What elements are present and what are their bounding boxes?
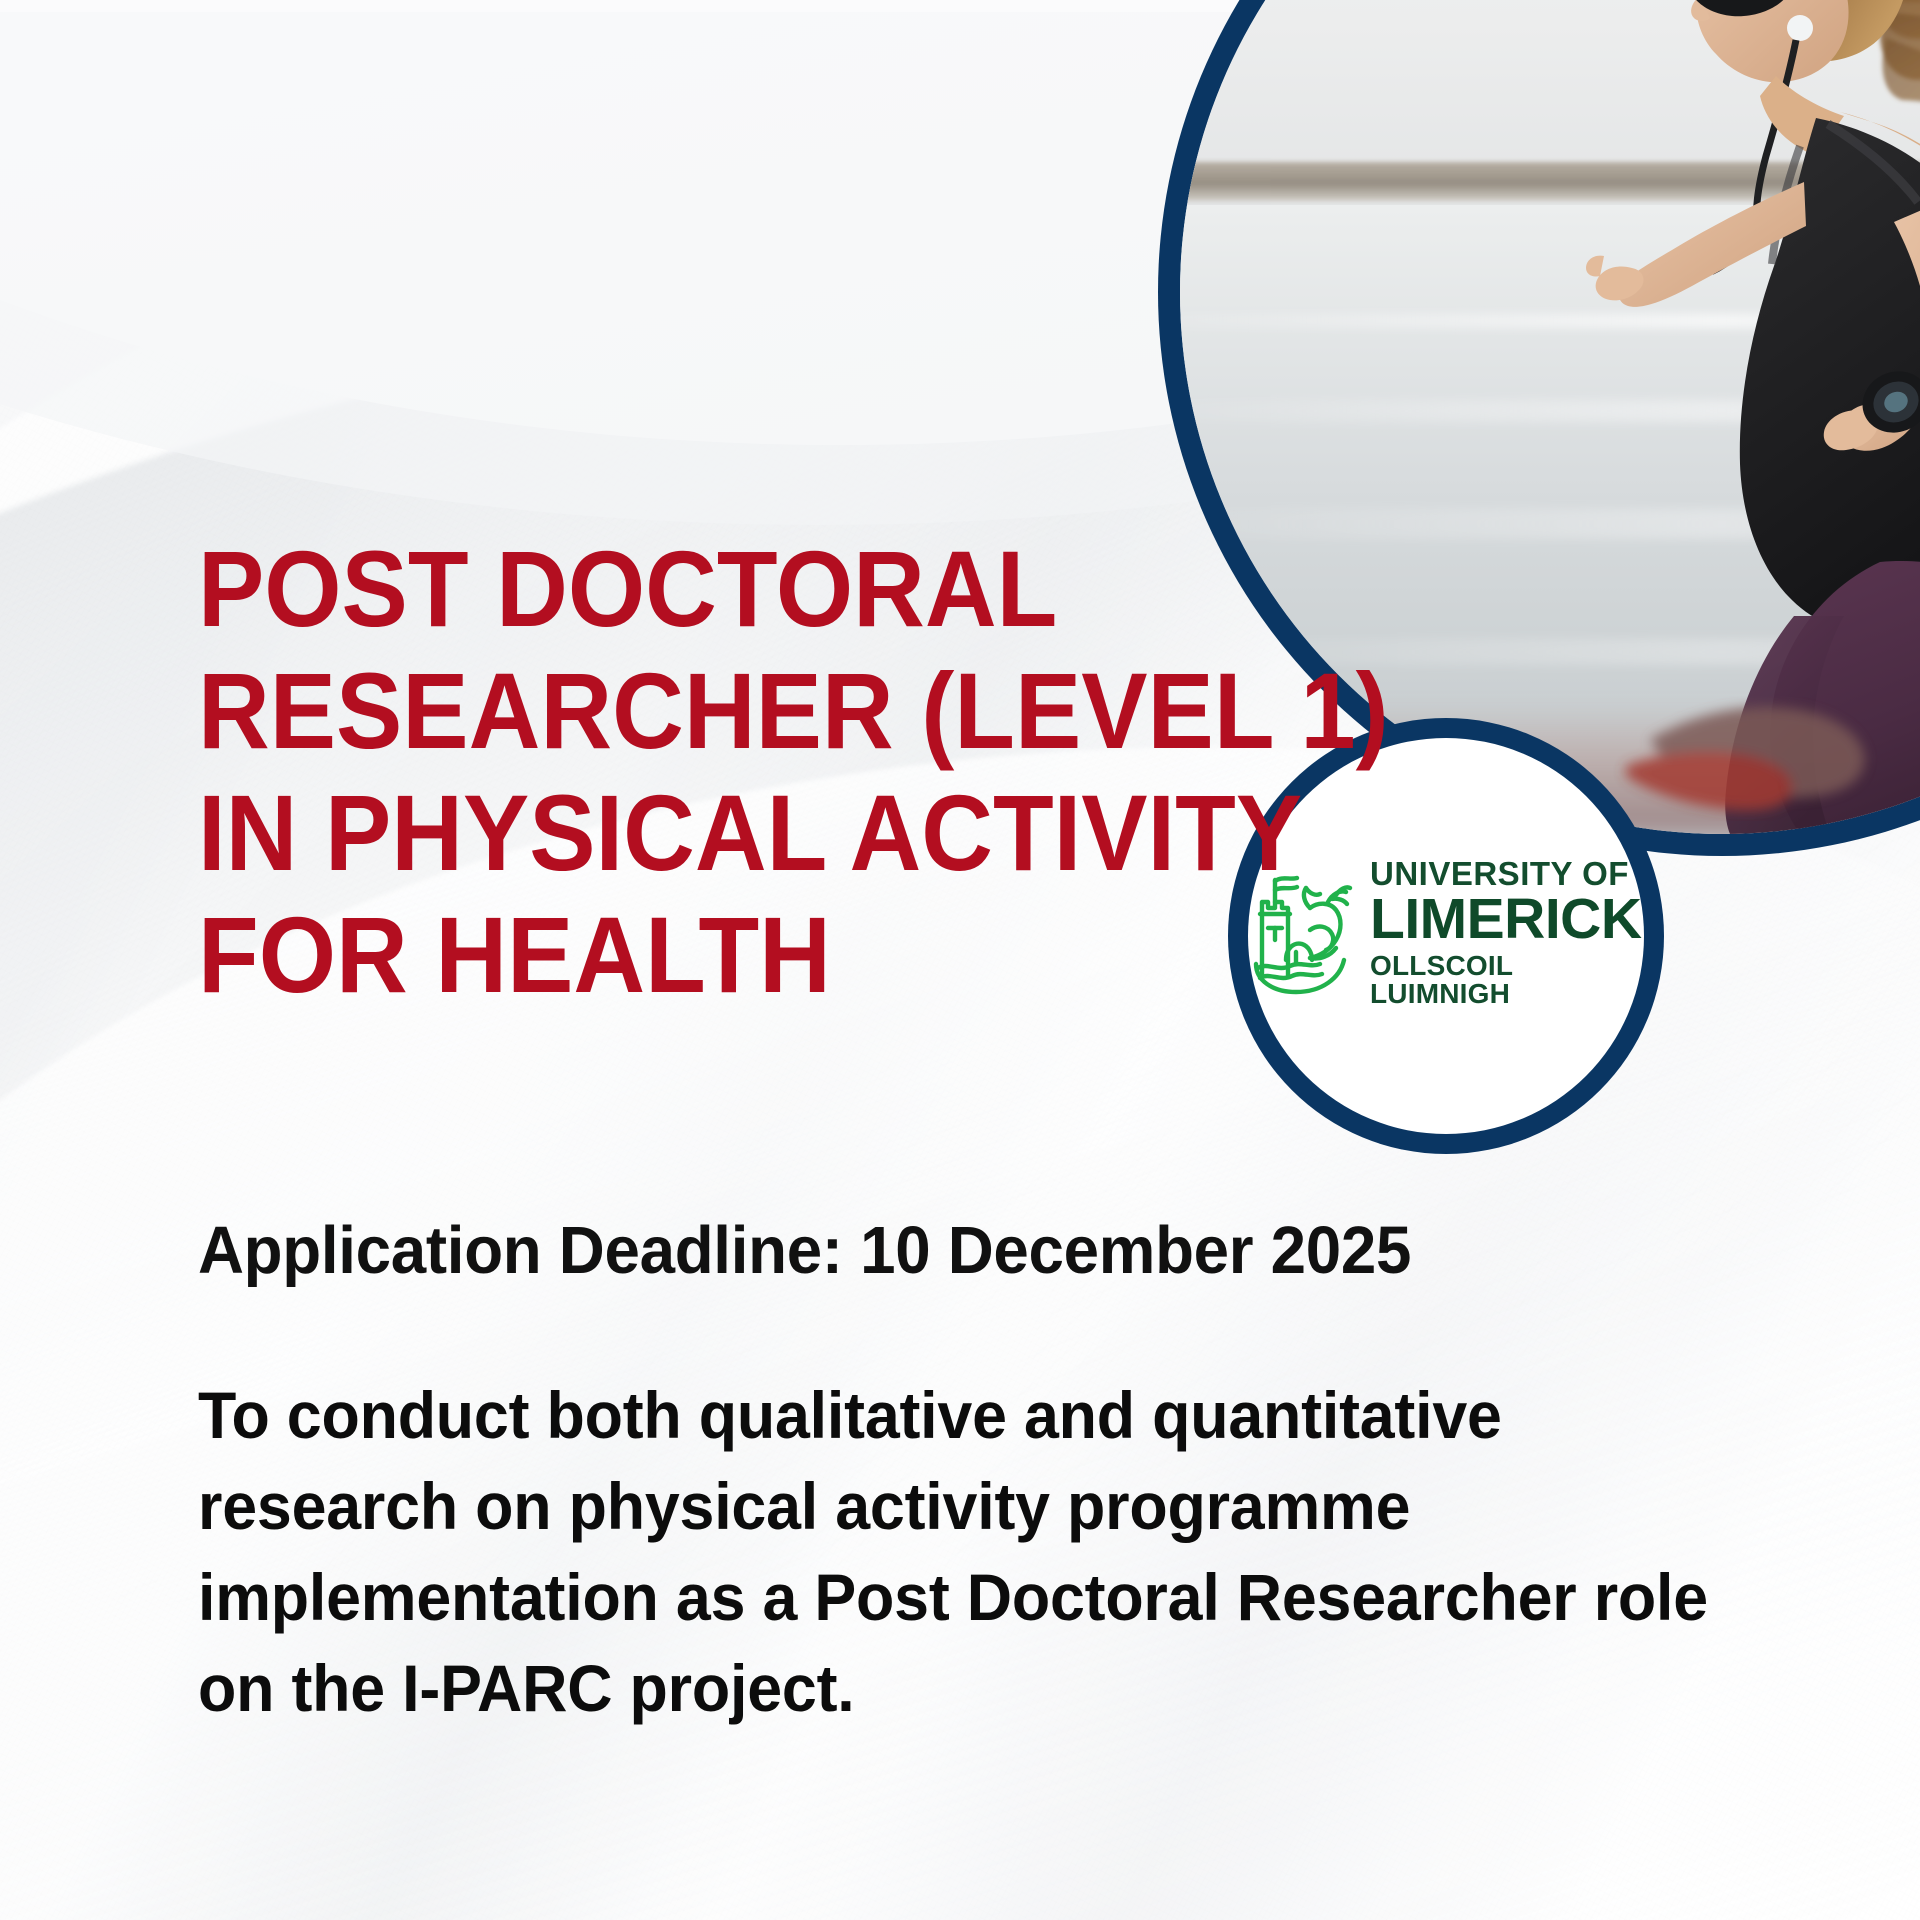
university-logo: UNIVERSITY OF LIMERICK OLLSCOIL LUIMNIGH xyxy=(1248,738,1644,1134)
job-description: To conduct both qualitative and quantita… xyxy=(198,1370,1718,1734)
logo-line-3: OLLSCOIL LUIMNIGH xyxy=(1370,952,1644,1008)
headline-line: POST DOCTORAL xyxy=(198,528,1136,650)
logo-line-2: LIMERICK xyxy=(1370,891,1644,948)
headline-line: RESEARCHER (LEVEL 1) xyxy=(198,650,1136,772)
headline-line: FOR HEALTH xyxy=(198,894,1136,1016)
poster-headline: POST DOCTORAL RESEARCHER (LEVEL 1) IN PH… xyxy=(198,528,1136,1016)
application-deadline: Application Deadline: 10 December 2025 xyxy=(198,1212,1411,1289)
recruitment-poster: UNIVERSITY OF LIMERICK OLLSCOIL LUIMNIGH… xyxy=(0,0,1920,1920)
headline-line: IN PHYSICAL ACTIVITY xyxy=(198,772,1136,894)
logo-line-1: UNIVERSITY OF xyxy=(1370,857,1644,890)
